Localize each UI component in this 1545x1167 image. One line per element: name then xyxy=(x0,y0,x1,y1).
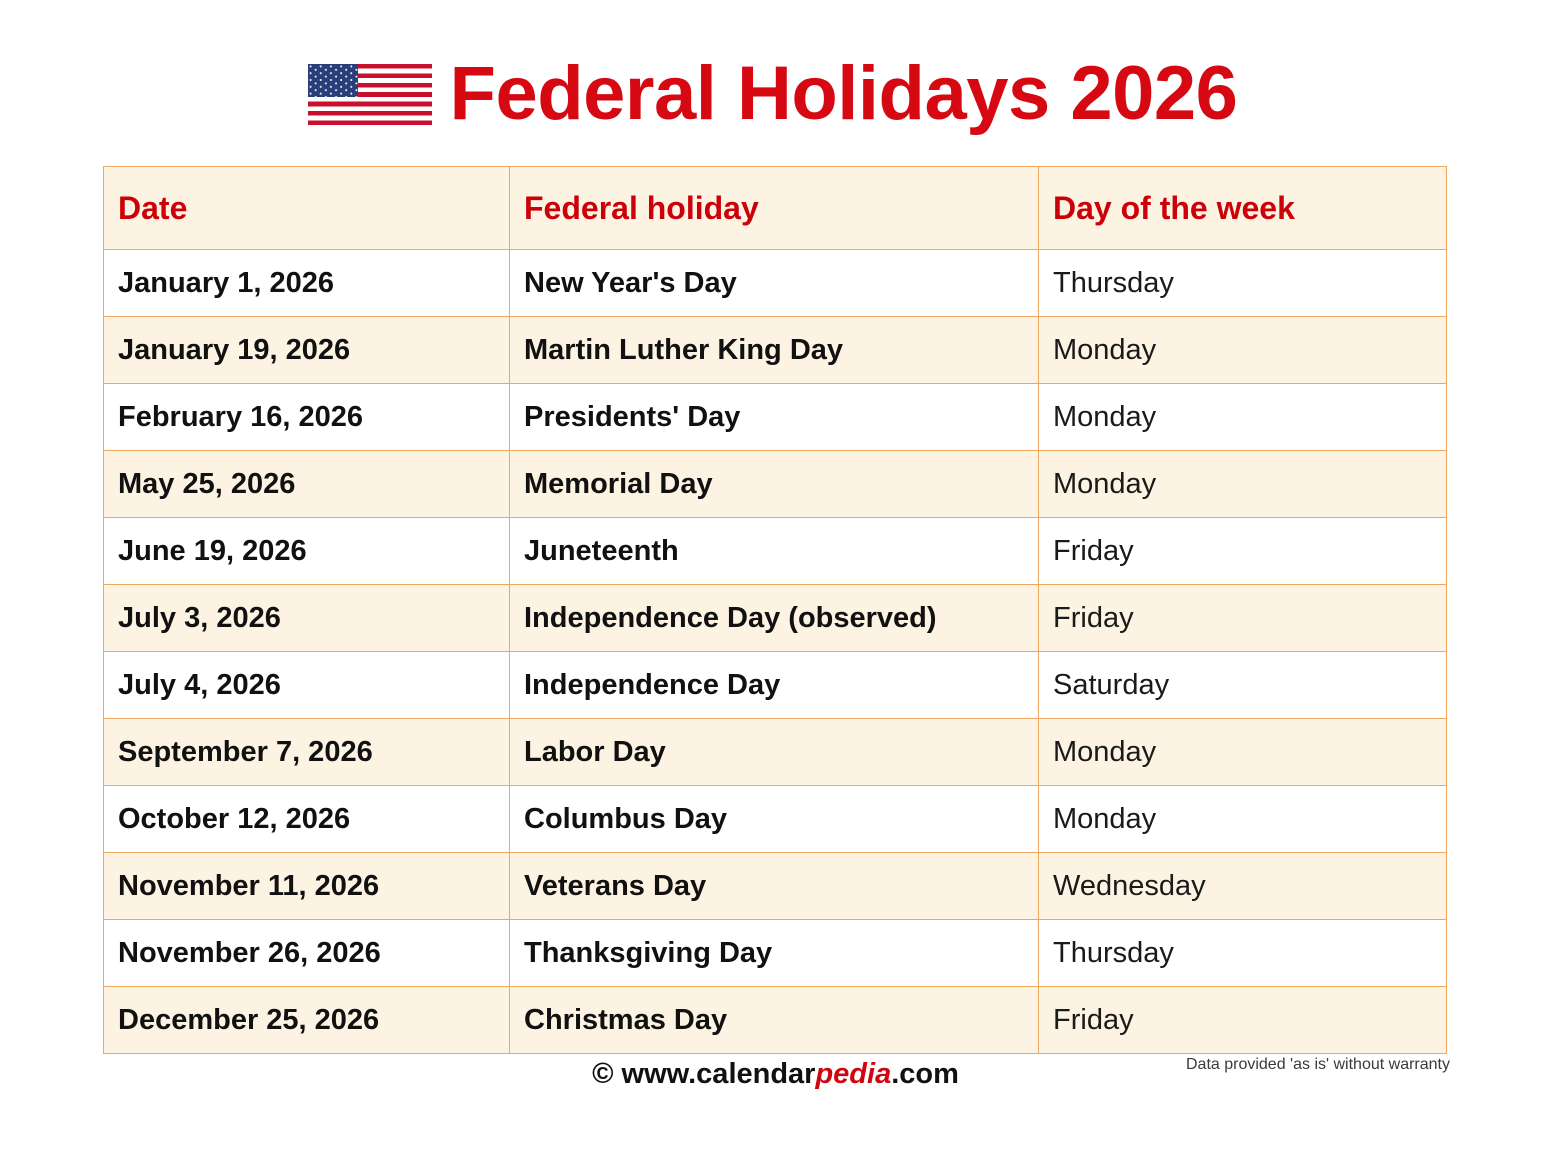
cell-holiday: Martin Luther King Day xyxy=(510,317,1039,384)
table-row: November 11, 2026 Veterans Day Wednesday xyxy=(104,853,1447,920)
cell-day: Monday xyxy=(1039,384,1447,451)
cell-day: Friday xyxy=(1039,585,1447,652)
cell-day: Saturday xyxy=(1039,652,1447,719)
cell-holiday: New Year's Day xyxy=(510,250,1039,317)
cell-day: Thursday xyxy=(1039,920,1447,987)
table-row: September 7, 2026 Labor Day Monday xyxy=(104,719,1447,786)
table-row: November 26, 2026 Thanksgiving Day Thurs… xyxy=(104,920,1447,987)
cell-date: January 1, 2026 xyxy=(104,250,510,317)
cell-holiday: Independence Day xyxy=(510,652,1039,719)
table-row: July 4, 2026 Independence Day Saturday xyxy=(104,652,1447,719)
us-flag-icon xyxy=(308,64,432,125)
page-title: Federal Holidays 2026 xyxy=(450,56,1238,132)
column-header-day: Day of the week xyxy=(1039,167,1447,250)
site-prefix: www.calendar xyxy=(622,1058,816,1090)
table-row: January 19, 2026 Martin Luther King Day … xyxy=(104,317,1447,384)
table-row: February 16, 2026 Presidents' Day Monday xyxy=(104,384,1447,451)
table-row: June 19, 2026 Juneteenth Friday xyxy=(104,518,1447,585)
cell-holiday: Presidents' Day xyxy=(510,384,1039,451)
cell-holiday: Christmas Day xyxy=(510,987,1039,1054)
copyright-symbol: © xyxy=(592,1058,613,1090)
table-header: Date Federal holiday Day of the week xyxy=(104,167,1447,250)
table-body: January 1, 2026 New Year's Day Thursday … xyxy=(104,250,1447,1054)
cell-day: Friday xyxy=(1039,987,1447,1054)
cell-date: January 19, 2026 xyxy=(104,317,510,384)
cell-date: October 12, 2026 xyxy=(104,786,510,853)
table-row: May 25, 2026 Memorial Day Monday xyxy=(104,451,1447,518)
flag-stars xyxy=(308,64,358,97)
cell-date: July 3, 2026 xyxy=(104,585,510,652)
site-suffix: .com xyxy=(891,1058,959,1090)
column-header-date: Date xyxy=(104,167,510,250)
holiday-list-page: Federal Holidays 2026 Date Federal holid… xyxy=(0,0,1545,1167)
cell-day: Friday xyxy=(1039,518,1447,585)
cell-date: May 25, 2026 xyxy=(104,451,510,518)
cell-day: Monday xyxy=(1039,719,1447,786)
cell-holiday: Labor Day xyxy=(510,719,1039,786)
cell-day: Monday xyxy=(1039,451,1447,518)
cell-date: September 7, 2026 xyxy=(104,719,510,786)
table-header-row: Date Federal holiday Day of the week xyxy=(104,167,1447,250)
cell-holiday: Columbus Day xyxy=(510,786,1039,853)
page-header: Federal Holidays 2026 xyxy=(0,56,1545,132)
cell-holiday: Memorial Day xyxy=(510,451,1039,518)
cell-date: June 19, 2026 xyxy=(104,518,510,585)
cell-date: July 4, 2026 xyxy=(104,652,510,719)
table-row: October 12, 2026 Columbus Day Monday xyxy=(104,786,1447,853)
cell-date: February 16, 2026 xyxy=(104,384,510,451)
cell-holiday: Independence Day (observed) xyxy=(510,585,1039,652)
column-header-holiday: Federal holiday xyxy=(510,167,1039,250)
cell-day: Wednesday xyxy=(1039,853,1447,920)
federal-holidays-table: Date Federal holiday Day of the week Jan… xyxy=(103,166,1447,1054)
site-accent: pedia xyxy=(815,1058,891,1090)
cell-holiday: Thanksgiving Day xyxy=(510,920,1039,987)
cell-holiday: Juneteenth xyxy=(510,518,1039,585)
table-row: January 1, 2026 New Year's Day Thursday xyxy=(104,250,1447,317)
cell-date: November 26, 2026 xyxy=(104,920,510,987)
table-row: July 3, 2026 Independence Day (observed)… xyxy=(104,585,1447,652)
cell-holiday: Veterans Day xyxy=(510,853,1039,920)
cell-date: December 25, 2026 xyxy=(104,987,510,1054)
page-footer: © www.calendarpedia.com Data provided 'a… xyxy=(103,1056,1448,1096)
disclaimer-text: Data provided 'as is' without warranty xyxy=(1186,1056,1450,1074)
cell-date: November 11, 2026 xyxy=(104,853,510,920)
cell-day: Thursday xyxy=(1039,250,1447,317)
cell-day: Monday xyxy=(1039,317,1447,384)
table-row: December 25, 2026 Christmas Day Friday xyxy=(104,987,1447,1054)
cell-day: Monday xyxy=(1039,786,1447,853)
